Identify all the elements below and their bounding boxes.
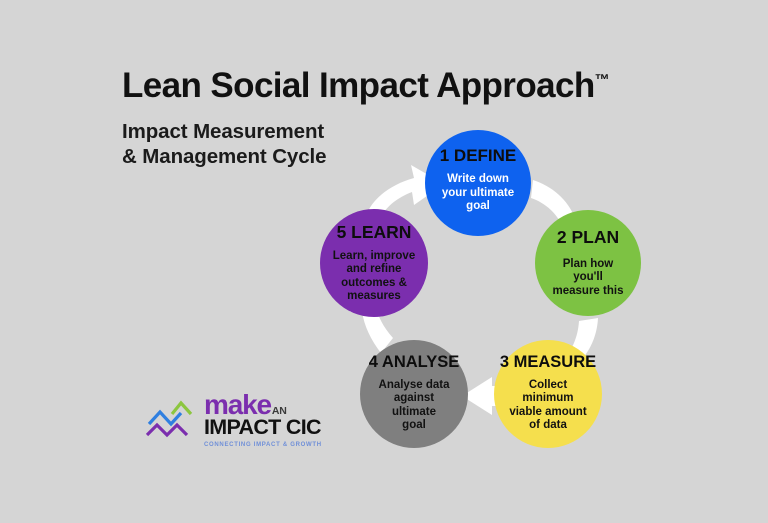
cycle-node-plan[interactable]: 2 PLAN Plan how you'll measure this [535,210,641,316]
cycle-node-plan-description: Plan how you'll measure this [553,258,624,299]
cycle-node-measure[interactable]: 3 MEASURE Collect minimum viable amount … [494,340,602,448]
cycle-node-analyse-description: Analyse data against ultimate goal [379,379,450,433]
logo-wordmark: makeAN IMPACT CIC CONNECTING IMPACT & GR… [204,392,316,448]
impact-cycle-diagram: 1 DEFINE Write down your ultimate goal 2… [0,0,768,523]
cycle-node-define-title: 1 DEFINE [440,147,517,164]
cycle-node-measure-description: Collect minimum viable amount of data [509,379,586,433]
cycle-node-learn-title: 5 LEARN [337,224,412,242]
cycle-node-define-description: Write down your ultimate goal [442,173,514,214]
cycle-node-analyse-title: 4 ANALYSE [369,354,459,371]
mountain-chevrons-icon [146,398,202,442]
cycle-node-measure-title: 3 MEASURE [500,354,596,371]
cycle-node-plan-title: 2 PLAN [557,229,619,247]
cycle-node-learn-description: Learn, improve and refine outcomes & mea… [333,250,415,304]
cycle-node-analyse[interactable]: 4 ANALYSE Analyse data against ultimate … [360,340,468,448]
logo-tagline: CONNECTING IMPACT & GROWTH [204,442,316,448]
logo-word-impact-cic: IMPACT CIC [204,417,316,439]
cycle-node-learn[interactable]: 5 LEARN Learn, improve and refine outcom… [320,209,428,317]
make-an-impact-cic-logo[interactable]: makeAN IMPACT CIC CONNECTING IMPACT & GR… [146,392,312,458]
cycle-node-define[interactable]: 1 DEFINE Write down your ultimate goal [425,130,531,236]
infographic-canvas: Lean Social Impact Approach™ Impact Meas… [0,0,768,523]
